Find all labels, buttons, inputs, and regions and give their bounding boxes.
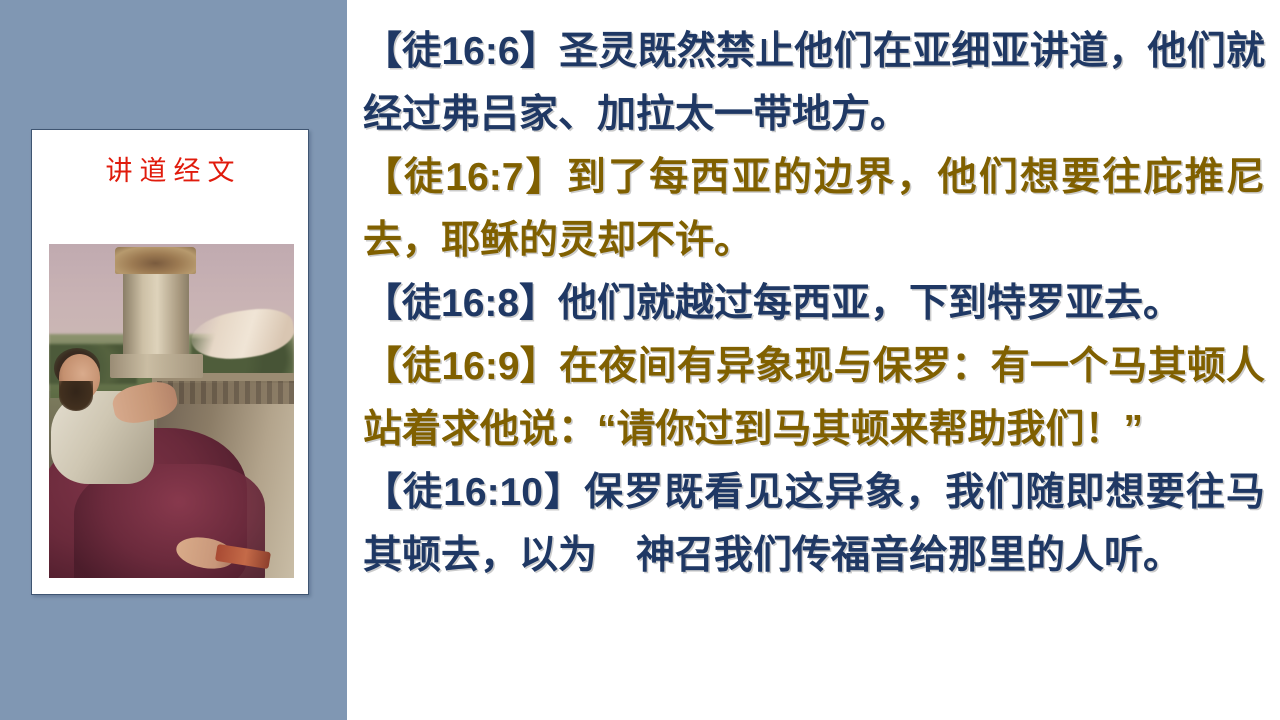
painting-column-shaft — [123, 267, 189, 361]
painting-wall-frieze — [157, 381, 294, 404]
verse-acts-16-9: 【徒16:9】在夜间有异象现与保罗：有一个马其顿人站着求他说：“请你过到马其顿来… — [363, 335, 1265, 461]
scripture-text-block: 【徒16:6】圣灵既然禁止他们在亚细亚讲道，他们就经过弗吕家、加拉太一带地方。 … — [363, 20, 1265, 710]
sermon-scripture-card: 讲道经文 — [31, 129, 309, 595]
painting-column-capital — [115, 247, 196, 274]
slide-root: 讲道经文 — [0, 0, 1280, 720]
verse-acts-16-7: 【徒16:7】到了每西亚的边界，他们想要往庇推尼去，耶稣的灵却不许。 — [363, 146, 1265, 272]
sidebar-panel: 讲道经文 — [0, 0, 347, 720]
painting-beard — [59, 381, 93, 411]
verse-acts-16-8: 【徒16:8】他们就越过每西亚，下到特罗亚去。 — [363, 272, 1265, 335]
painting-column-base — [110, 354, 203, 377]
card-title: 讲道经文 — [32, 158, 308, 185]
verse-acts-16-10: 【徒16:10】保罗既看见这异象，我们随即想要往马其顿去，以为 神召我们传福音给… — [363, 461, 1265, 587]
paul-painting-image — [49, 244, 294, 578]
verse-acts-16-6: 【徒16:6】圣灵既然禁止他们在亚细亚讲道，他们就经过弗吕家、加拉太一带地方。 — [363, 20, 1265, 146]
